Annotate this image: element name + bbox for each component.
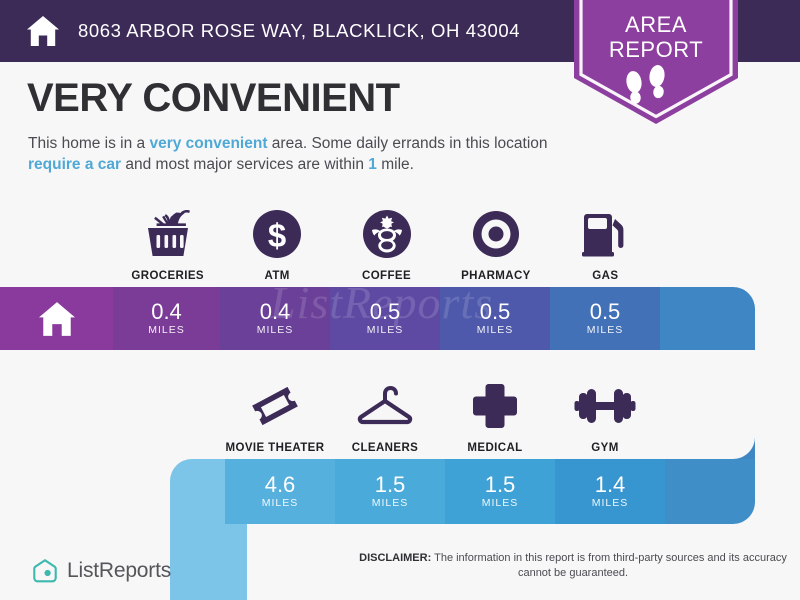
- dollar-circle-icon: $: [252, 205, 302, 263]
- category-movie-theater: MOVIE THEATER: [220, 372, 330, 454]
- category-label: MEDICAL: [467, 442, 522, 454]
- row1-cell-gas: 0.5 MILES: [550, 287, 660, 350]
- subtitle-highlight-2: require a car: [28, 156, 121, 173]
- row2-icon-strip: MOVIE THEATER CLEANERS MEDICAL: [220, 372, 660, 454]
- disclaimer: DISCLAIMER: The information in this repo…: [358, 551, 788, 580]
- distance-value: 4.6: [265, 473, 296, 497]
- distance-unit: MILES: [372, 497, 409, 510]
- row1-value-strip: 0.4 MILES 0.4 MILES 0.5 MILES 0.5 MILES …: [0, 287, 800, 350]
- disclaimer-text: The information in this report is from t…: [431, 552, 787, 579]
- distance-unit: MILES: [592, 497, 629, 510]
- row2-cell-cleaners: 1.5 MILES: [335, 459, 445, 524]
- row1-cell-coffee: 0.5 MILES: [330, 287, 440, 350]
- row2-cell-movie-theater: 4.6 MILES: [225, 459, 335, 524]
- distance-value: 1.5: [375, 473, 406, 497]
- grocery-basket-icon: [140, 205, 196, 263]
- badge-line-1: AREA: [574, 12, 738, 37]
- subtitle-part-1: This home is in a: [28, 135, 149, 152]
- distance-value: 0.5: [370, 300, 401, 324]
- distance-unit: MILES: [257, 324, 294, 337]
- distance-unit: MILES: [482, 497, 519, 510]
- dumbbell-icon: [574, 377, 636, 435]
- medical-cross-icon: [471, 377, 519, 435]
- movie-ticket-icon: [249, 377, 301, 435]
- clothes-hanger-icon: [356, 377, 414, 435]
- category-cleaners: CLEANERS: [330, 372, 440, 454]
- category-label: CLEANERS: [352, 442, 418, 454]
- category-pharmacy: PHARMACY: [441, 196, 550, 282]
- category-label: GYM: [591, 442, 618, 454]
- category-label: ATM: [264, 270, 289, 282]
- distance-value: 1.5: [485, 473, 516, 497]
- category-label: MOVIE THEATER: [226, 442, 325, 454]
- target-bullseye-icon: [471, 205, 521, 263]
- distance-value: 0.5: [590, 300, 621, 324]
- subtitle-part-3: and most major services are within: [121, 156, 368, 173]
- subtitle-part-2: area. Some daily errands in this locatio…: [268, 135, 548, 152]
- row2-cell-medical: 1.5 MILES: [445, 459, 555, 524]
- badge-line-2: REPORT: [574, 37, 738, 62]
- home-icon: [37, 301, 77, 337]
- badge-label: AREA REPORT: [574, 12, 738, 62]
- category-groceries: GROCERIES: [113, 196, 222, 282]
- category-label: PHARMACY: [461, 270, 531, 282]
- category-label: GAS: [592, 270, 618, 282]
- row1-cell-groceries: 0.4 MILES: [113, 287, 220, 350]
- listreports-logo[interactable]: ListReports: [32, 558, 171, 584]
- row2-value-strip: 4.6 MILES 1.5 MILES 1.5 MILES 1.4 MILES: [170, 459, 800, 524]
- category-gym: GYM: [550, 372, 660, 454]
- row2-cell-gym: 1.4 MILES: [555, 459, 665, 524]
- row1-home-cell: [0, 287, 113, 350]
- area-report-badge: AREA REPORT: [574, 0, 738, 122]
- row1-cell-atm: 0.4 MILES: [220, 287, 330, 350]
- subtitle-highlight-3: 1: [368, 156, 377, 173]
- distance-value: 0.4: [260, 300, 291, 324]
- page-title: VERY CONVENIENT: [27, 76, 400, 121]
- row1-cell-pharmacy: 0.5 MILES: [440, 287, 550, 350]
- page-subtitle: This home is in a very convenient area. …: [28, 133, 558, 175]
- subtitle-highlight-1: very convenient: [149, 135, 267, 152]
- listreports-house-icon: [32, 558, 58, 584]
- category-label: GROCERIES: [131, 270, 204, 282]
- category-gas: GAS: [551, 196, 660, 282]
- category-label: COFFEE: [362, 270, 411, 282]
- gas-pump-icon: [579, 205, 631, 263]
- distance-value: 1.4: [595, 473, 626, 497]
- distance-unit: MILES: [262, 497, 299, 510]
- distance-unit: MILES: [477, 324, 514, 337]
- property-address: 8063 ARBOR ROSE WAY, BLACKLICK, OH 43004: [78, 20, 520, 42]
- starbucks-siren-icon: [362, 205, 412, 263]
- distance-value: 0.5: [480, 300, 511, 324]
- row1-icon-strip: GROCERIES $ ATM: [113, 196, 660, 282]
- category-medical: MEDICAL: [440, 372, 550, 454]
- home-icon: [26, 14, 60, 48]
- distance-unit: MILES: [367, 324, 404, 337]
- distance-unit: MILES: [148, 324, 185, 337]
- category-atm: $ ATM: [222, 196, 331, 282]
- subtitle-part-4: mile.: [377, 156, 414, 173]
- svg-text:$: $: [268, 217, 286, 254]
- area-report-infographic: 8063 ARBOR ROSE WAY, BLACKLICK, OH 43004…: [0, 0, 800, 600]
- distance-value: 0.4: [151, 300, 182, 324]
- distance-unit: MILES: [587, 324, 624, 337]
- category-coffee: COFFEE: [332, 196, 441, 282]
- disclaimer-label: DISCLAIMER:: [359, 552, 431, 564]
- logo-text: ListReports: [67, 559, 171, 583]
